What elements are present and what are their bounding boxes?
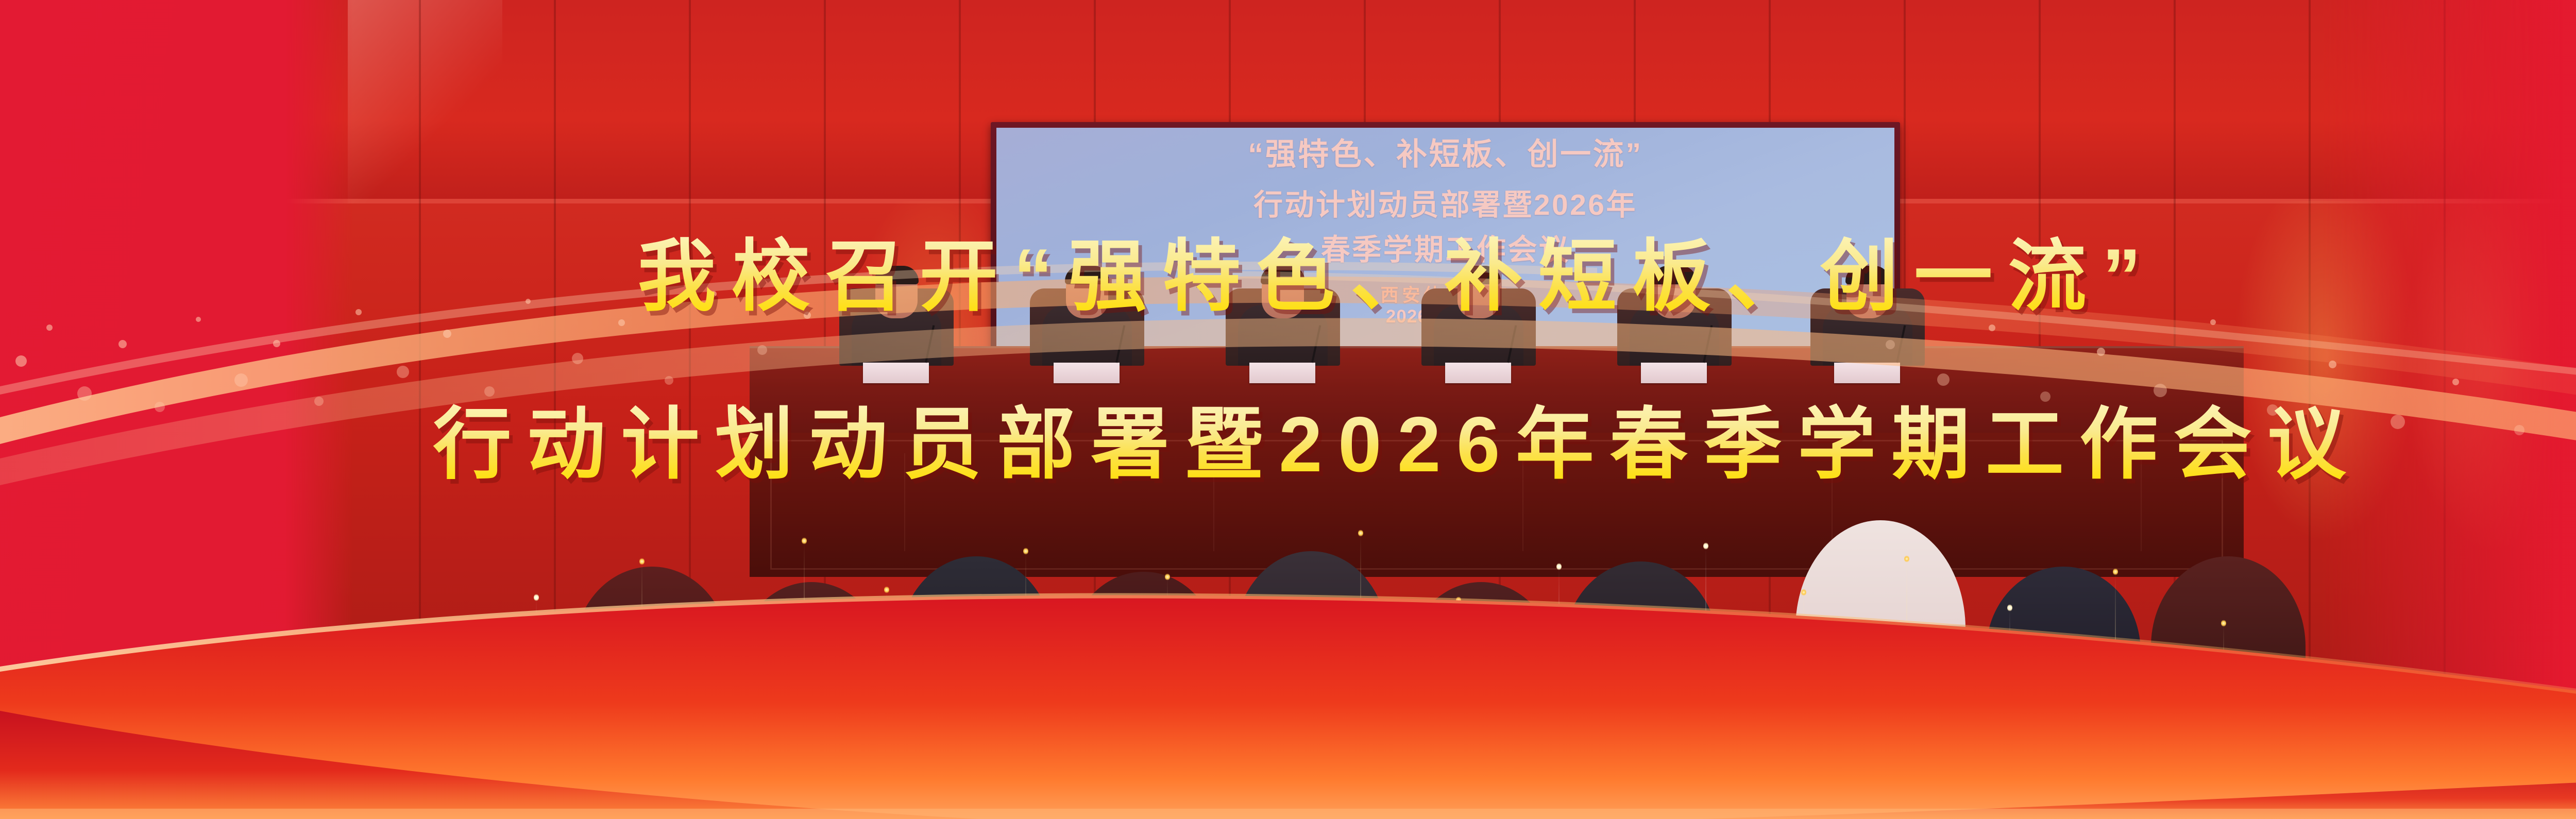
bottom-wave-decoration xyxy=(0,531,2576,819)
banner-image: “强特色、补短板、创一流” 行动计划动员部署暨2026年 春季学期工作会议 西安… xyxy=(0,0,2576,819)
screen-title-line1: “强特色、补短板、创一流” xyxy=(996,139,1894,170)
